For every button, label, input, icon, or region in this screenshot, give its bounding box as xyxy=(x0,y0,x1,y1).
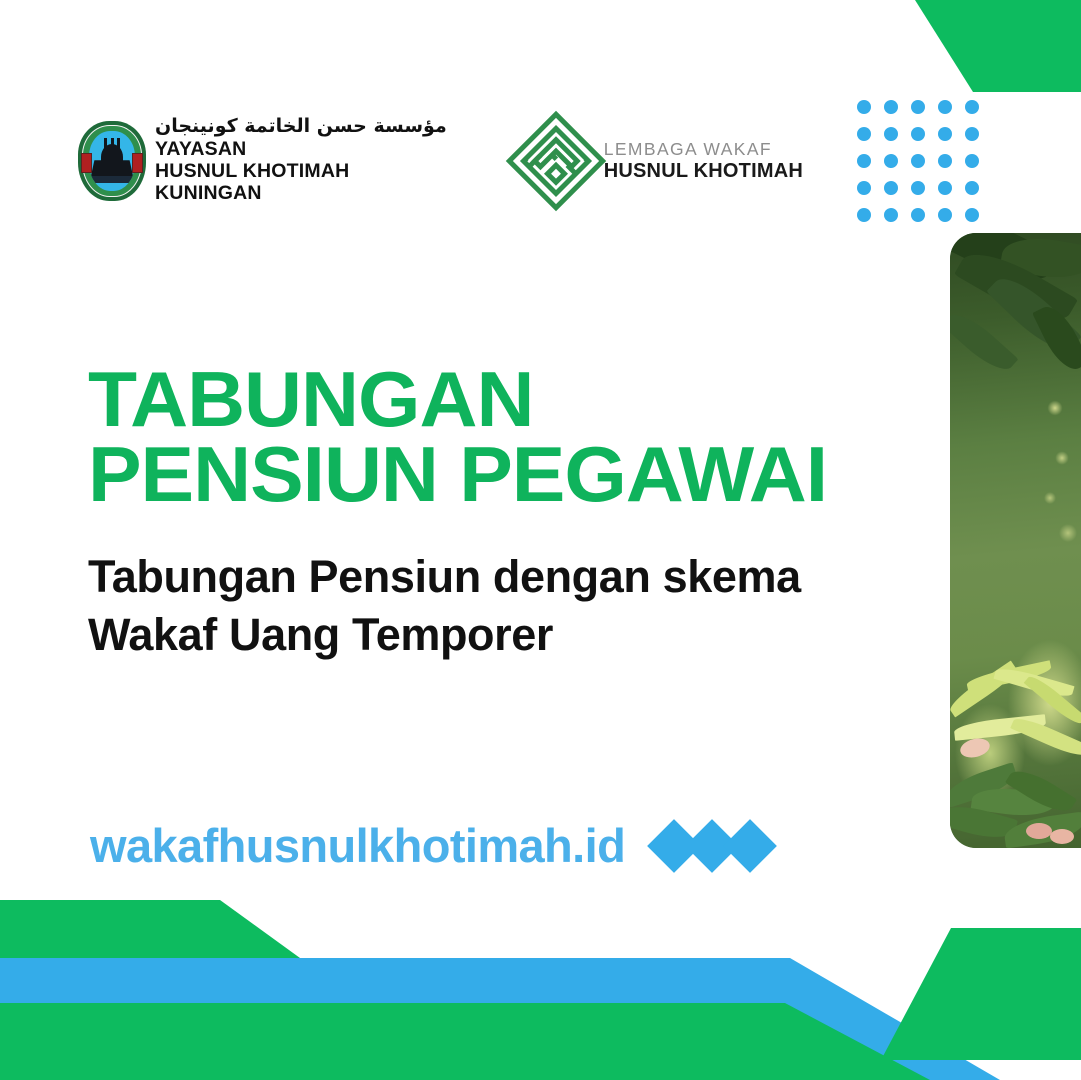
kufic-calligraphy-icon xyxy=(503,109,608,214)
poster-canvas: مؤسسة حسن الخاتمة كونينجان YAYASAN HUSNU… xyxy=(0,0,1081,1080)
page-subtitle: Tabungan Pensiun dengan skema Wakaf Uang… xyxy=(88,548,801,663)
yayasan-emblem-icon xyxy=(78,121,146,201)
diamond-accent-icon xyxy=(655,827,767,865)
yayasan-arabic-name: مؤسسة حسن الخاتمة كونينجان xyxy=(155,117,447,136)
top-right-green-shape xyxy=(871,0,1081,92)
website-row: wakafhusnulkhotimah.id xyxy=(90,818,767,873)
yayasan-logo: مؤسسة حسن الخاتمة كونينجان YAYASAN HUSNU… xyxy=(78,117,447,204)
lembaga-wakaf-logo: LEMBAGA WAKAF HUSNUL KHOTIMAH xyxy=(519,124,803,198)
flower-shape xyxy=(1026,823,1052,839)
logo-row: مؤسسة حسن الخاتمة كونينجان YAYASAN HUSNU… xyxy=(78,100,979,222)
headline-line-2: PENSIUN PEGAWAI xyxy=(88,437,827,512)
flower-shape xyxy=(1050,829,1074,844)
foliage-photo-panel xyxy=(950,233,1081,848)
yayasan-line-1: YAYASAN xyxy=(155,139,447,161)
website-url[interactable]: wakafhusnulkhotimah.id xyxy=(90,818,625,873)
yayasan-line-2: HUSNUL KHOTIMAH xyxy=(155,161,447,183)
subtitle-line-1: Tabungan Pensiun dengan skema xyxy=(88,548,801,606)
lembaga-wakaf-top-label: LEMBAGA WAKAF xyxy=(604,141,803,159)
subtitle-line-2: Wakaf Uang Temporer xyxy=(88,606,801,664)
bottom-decoration xyxy=(0,900,1081,1080)
yayasan-line-3: KUNINGAN xyxy=(155,183,447,205)
page-title: TABUNGAN PENSIUN PEGAWAI xyxy=(88,362,827,512)
lembaga-wakaf-bottom-label: HUSNUL KHOTIMAH xyxy=(604,161,803,181)
headline-line-1: TABUNGAN xyxy=(88,362,827,437)
blue-dot-grid-icon xyxy=(857,100,979,222)
bottom-green-band-top-left xyxy=(0,900,300,958)
